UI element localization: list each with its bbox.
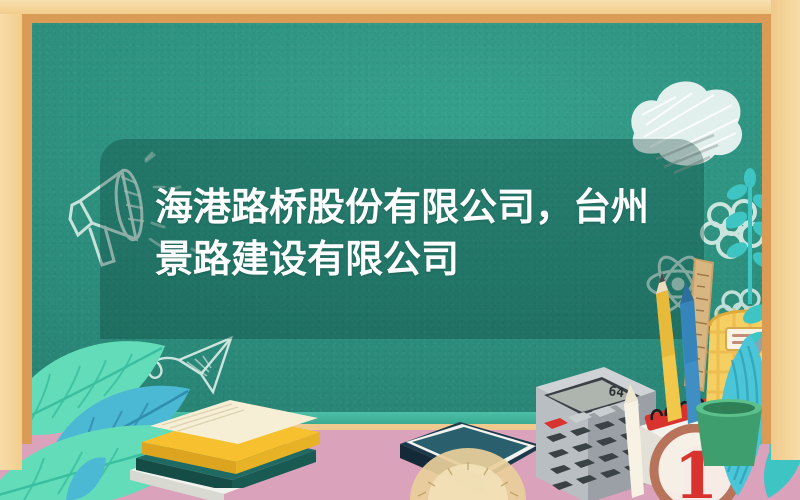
banner-image: 海港路桥股份有限公司，台州景路建设有限公司 <box>0 0 800 500</box>
page-title: 海港路桥股份有限公司，台州景路建设有限公司 <box>155 181 675 285</box>
protractor <box>404 442 534 500</box>
frame-left <box>0 0 22 470</box>
frame-top <box>0 0 800 14</box>
frame-inner-left <box>22 14 32 444</box>
frame-right <box>771 0 800 460</box>
frame-inner-right <box>762 14 771 444</box>
frame-inner-top <box>22 14 770 23</box>
pencil-pale <box>616 382 650 500</box>
book-pages-open <box>146 392 324 452</box>
